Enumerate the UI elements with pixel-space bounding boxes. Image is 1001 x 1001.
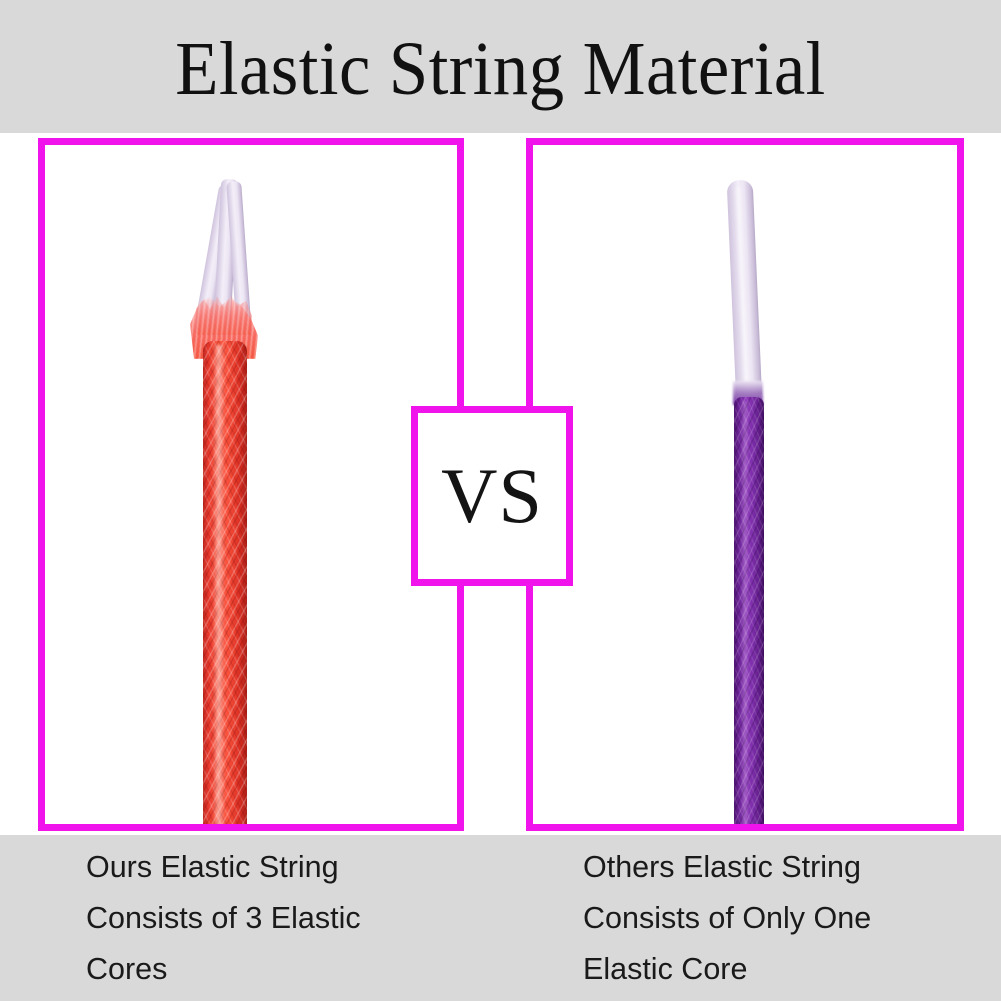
vs-label: VS: [441, 457, 543, 535]
vs-badge: VS: [411, 406, 573, 586]
purple-cord-highlight: [741, 401, 749, 831]
caption-ours-line-1: Ours Elastic String: [86, 842, 486, 893]
caption-others-line-3: Elastic Core: [583, 944, 983, 995]
infographic-canvas: Elastic String Material: [0, 0, 1001, 1001]
caption-ours-line-3: Cores: [86, 944, 486, 995]
caption-others-line-1: Others Elastic String: [583, 842, 983, 893]
caption-others-line-2: Consists of Only One: [583, 893, 983, 944]
red-braided-sheath: [203, 341, 247, 831]
page-title: Elastic String Material: [35, 26, 966, 112]
panel-others: [526, 138, 964, 831]
red-cord-highlight: [213, 345, 225, 831]
caption-others: Others Elastic String Consists of Only O…: [583, 842, 983, 995]
ours-cord-illustration: [45, 145, 457, 824]
caption-ours: Ours Elastic String Consists of 3 Elasti…: [86, 842, 486, 995]
purple-braided-sheath: [734, 397, 764, 831]
others-cord-illustration: [533, 145, 957, 824]
caption-ours-line-2: Consists of 3 Elastic: [86, 893, 486, 944]
panel-ours: [38, 138, 464, 831]
